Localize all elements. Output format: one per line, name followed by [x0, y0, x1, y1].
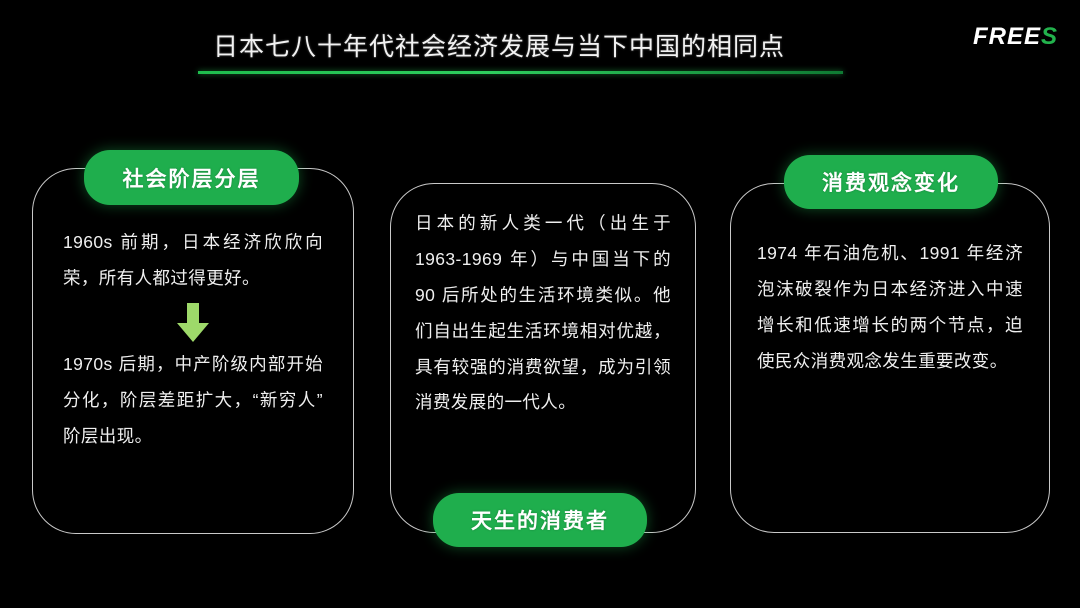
card-badge-social-stratification: 社会阶层分层 [84, 150, 299, 205]
card-paragraph: 日本的新人类一代（出生于 1963-1969 年）与中国当下的 90 后所处的生… [415, 206, 671, 421]
brand-logo-accent: S [1041, 23, 1058, 50]
arrow-down-icon [63, 303, 323, 343]
card-paragraph: 1970s 后期，中产阶级内部开始分化，阶层差距扩大，“新穷人”阶层出现。 [63, 347, 323, 455]
card-badge-consumption-attitude-change: 消费观念变化 [784, 155, 998, 209]
card-body: 1974 年石油危机、1991 年经济泡沫破裂作为日本经济进入中速增长和低速增长… [731, 236, 1049, 380]
slide-header: 日本七八十年代社会经济发展与当下中国的相同点 FREES [0, 0, 1080, 100]
card-paragraph: 1960s 前期，日本经济欣欣向荣，所有人都过得更好。 [63, 225, 323, 297]
page-title: 日本七八十年代社会经济发展与当下中国的相同点 [213, 27, 785, 63]
card-paragraph: 1974 年石油危机、1991 年经济泡沫破裂作为日本经济进入中速增长和低速增长… [757, 236, 1023, 380]
card-badge-born-consumers: 天生的消费者 [433, 493, 647, 547]
brand-logo: FREES [973, 25, 1058, 49]
title-underline [198, 71, 843, 74]
brand-logo-main: FREE [973, 23, 1041, 50]
content-card-social-stratification: 1960s 前期，日本经济欣欣向荣，所有人都过得更好。 1970s 后期，中产阶… [32, 168, 354, 534]
card-body: 1960s 前期，日本经济欣欣向荣，所有人都过得更好。 1970s 后期，中产阶… [33, 225, 353, 454]
content-card-consumption-attitude-change: 1974 年石油危机、1991 年经济泡沫破裂作为日本经济进入中速增长和低速增长… [730, 183, 1050, 533]
content-card-born-consumers: 日本的新人类一代（出生于 1963-1969 年）与中国当下的 90 后所处的生… [390, 183, 696, 533]
card-body: 日本的新人类一代（出生于 1963-1969 年）与中国当下的 90 后所处的生… [391, 206, 695, 421]
